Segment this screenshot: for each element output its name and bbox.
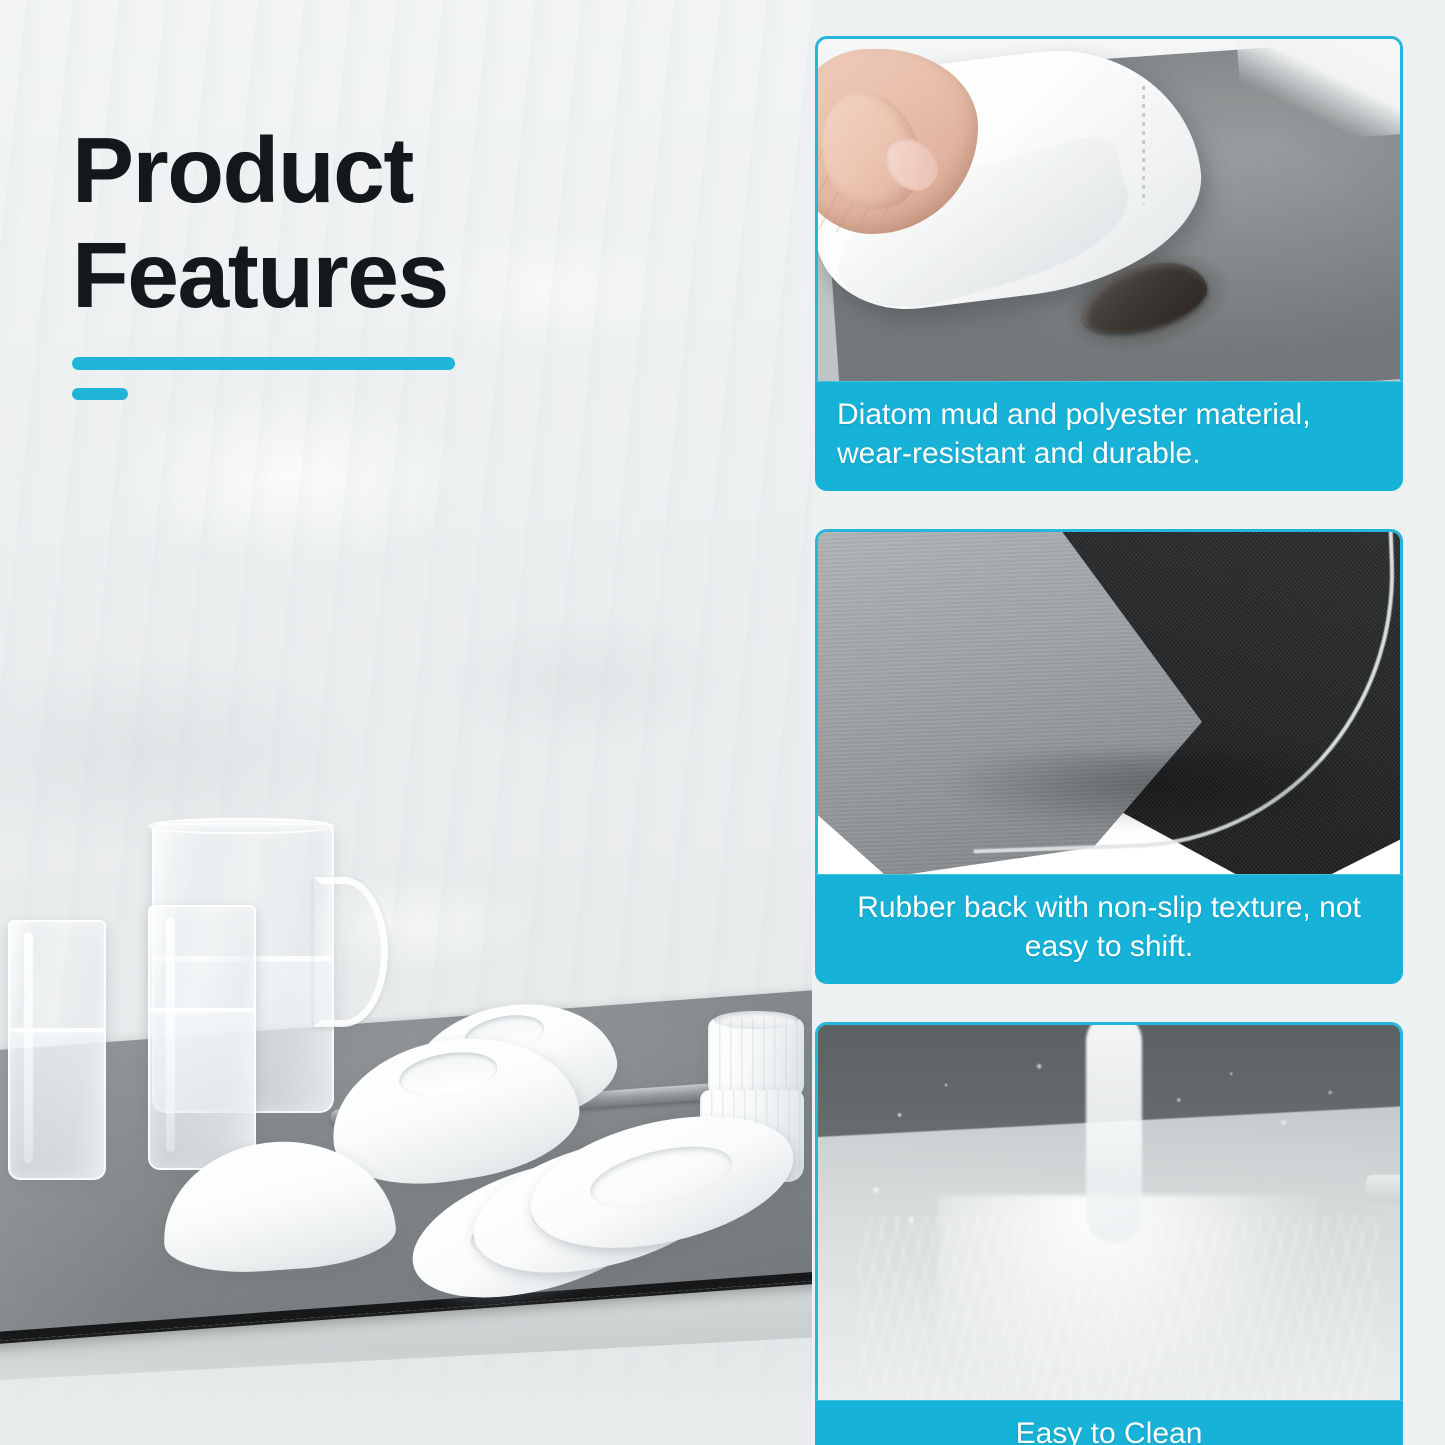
glass-highlight (24, 932, 33, 1162)
feature-card-easy-clean: Easy to Clean (815, 1022, 1403, 1445)
page-title-line-2: Features (72, 223, 448, 327)
title-accent-rule-long (72, 357, 455, 370)
feature-caption-material: Diatom mud and polyester material, wear-… (815, 381, 1403, 491)
water-droplets (818, 1025, 1400, 1400)
thumbnail (874, 127, 948, 200)
plate-well (584, 1135, 737, 1219)
page-title-line-1: Product (72, 118, 413, 222)
title-accent-rule-short (72, 388, 128, 400)
cloth-seam (1142, 86, 1145, 204)
feature-caption-easy-clean: Easy to Clean (815, 1400, 1403, 1445)
glass-highlight (166, 917, 175, 1152)
feature-card-material: Diatom mud and polyester material, wear-… (815, 36, 1403, 491)
page-title: Product Features (72, 118, 712, 328)
fluted-ramekin (708, 1018, 804, 1100)
feature-caption-non-slip: Rubber back with non-slip texture, not e… (815, 874, 1403, 984)
feature-photo-easy-clean (815, 1022, 1403, 1400)
mat-fold-shadow (938, 752, 1358, 832)
feature-card-list: Diatom mud and polyester material, wear-… (815, 36, 1403, 1445)
drinking-glass (148, 905, 256, 1170)
feature-card-non-slip: Rubber back with non-slip texture, not e… (815, 529, 1403, 984)
mat-far-corner (1236, 36, 1403, 145)
ramekin-mouth (714, 1011, 799, 1029)
feature-photo-non-slip (815, 529, 1403, 874)
drinking-glass (8, 920, 106, 1180)
bowl-foot-ring (396, 1046, 501, 1103)
pitcher-rim (148, 818, 334, 834)
sink-edge (1366, 1175, 1403, 1201)
product-features-infographic: Product Features (0, 0, 1445, 1445)
foreground-fade (0, 1350, 812, 1445)
feature-photo-material (815, 36, 1403, 381)
